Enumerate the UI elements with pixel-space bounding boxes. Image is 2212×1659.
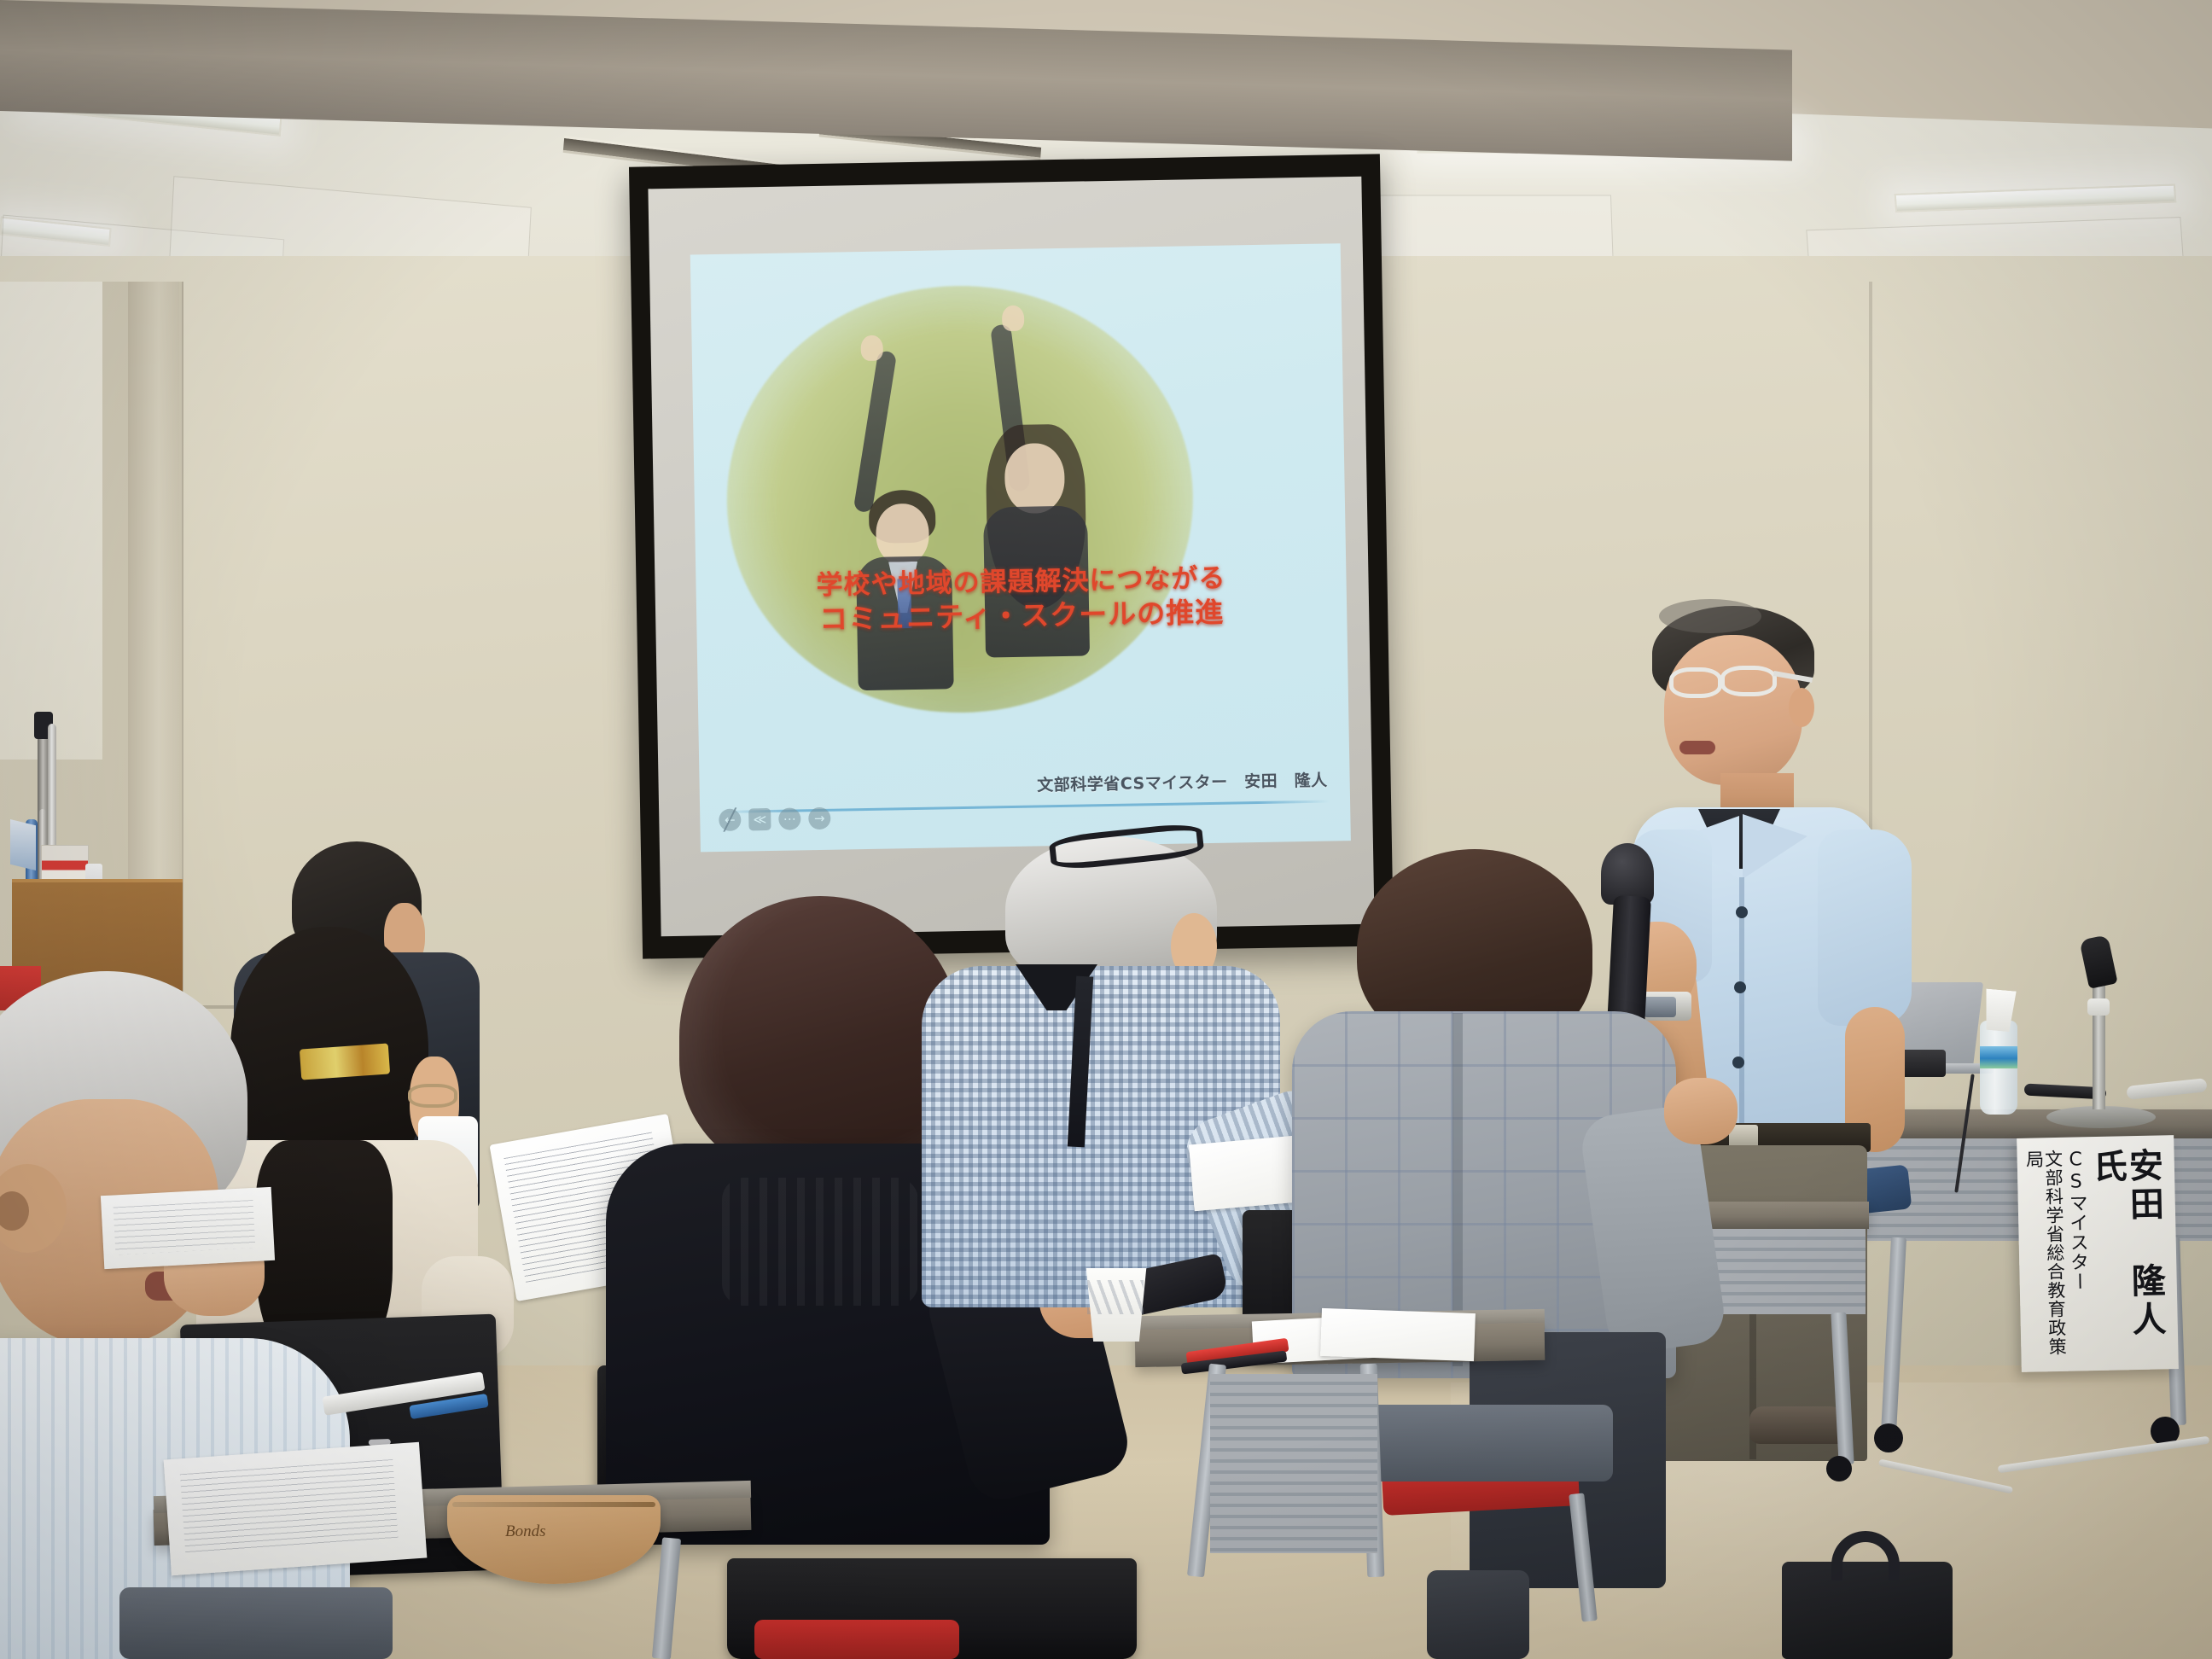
presenter-mouth <box>1679 741 1715 754</box>
photo-scene: 学校や地域の課題解決につながる コミュニティ・スクールの推進 文部科学省CSマイ… <box>0 0 2212 1659</box>
paper-text-lines <box>114 1200 256 1255</box>
name-placard: 安田 隆人氏 CSマイスター 文部科学省総合教育政策局 <box>2017 1135 2179 1372</box>
placard-role: CSマイスター <box>2065 1149 2089 1362</box>
microphone-stand-collar <box>2087 998 2110 1016</box>
eyeglasses <box>408 1084 457 1108</box>
flag-banner <box>10 819 36 870</box>
hand <box>860 335 883 361</box>
chair-seat[interactable] <box>1365 1405 1613 1481</box>
presenter-right-sleeve <box>1818 829 1912 1026</box>
slide-navigation-controls[interactable]: ← ╱ ≪ ⋯ → <box>719 807 830 831</box>
blouse-pleats <box>722 1178 918 1306</box>
head <box>1004 443 1065 514</box>
presenter-ear <box>1789 688 1814 727</box>
projected-slide: 学校や地域の課題解決につながる コミュニティ・スクールの推進 文部科学省CSマイ… <box>690 243 1351 852</box>
paper-sheet[interactable] <box>101 1187 275 1269</box>
hand <box>1002 306 1025 331</box>
presenter-hair-highlight <box>1659 599 1761 633</box>
desk-modesty-panel <box>1210 1374 1377 1553</box>
eyeglasses-right-lens <box>1720 666 1777 696</box>
pouch-zipper <box>452 1502 655 1507</box>
shirt-button <box>1732 1057 1744 1068</box>
open-notebook-right-page[interactable] <box>1320 1308 1476 1361</box>
hand <box>1664 1078 1738 1144</box>
presenter-head <box>1664 635 1802 785</box>
slide-byline: 文部科学省CSマイスター 安田 隆人 <box>1037 768 1328 796</box>
cup-pattern <box>1087 1280 1144 1314</box>
placard-organization: 文部科学省総合教育政策局 <box>2024 1150 2066 1364</box>
raised-arm <box>853 350 897 513</box>
slide-sorter-icon[interactable]: ≪ <box>748 808 771 830</box>
red-seat-cushion <box>754 1620 959 1659</box>
slide-child-boy <box>835 346 961 689</box>
chair-seat[interactable] <box>119 1587 393 1659</box>
eyeglasses-left-lens <box>1669 667 1722 698</box>
table-caster <box>1826 1456 1852 1481</box>
pouch-logo: Bonds <box>505 1522 587 1551</box>
shirt-button <box>1734 981 1746 993</box>
shirt-button <box>1736 906 1748 918</box>
placard-name: 安田 隆人氏 <box>2088 1147 2164 1362</box>
more-options-icon[interactable]: ⋯ <box>778 807 800 829</box>
bottle-label <box>1980 1046 2017 1068</box>
ceiling-light-fixture <box>1895 184 2177 213</box>
paper-text-lines <box>180 1459 399 1556</box>
arrow-right-icon[interactable]: → <box>808 807 830 829</box>
lower-leg <box>1427 1570 1529 1659</box>
screen-surface: 学校や地域の課題解決につながる コミュニティ・スクールの推進 文部科学省CSマイ… <box>648 177 1374 936</box>
wall-upper-panel <box>0 282 102 760</box>
paper-handout[interactable] <box>164 1442 428 1576</box>
slide-title: 学校や地域の課題解決につながる コミュニティ・スクールの推進 <box>696 561 1347 638</box>
pen-icon[interactable]: ╱ <box>719 809 741 831</box>
